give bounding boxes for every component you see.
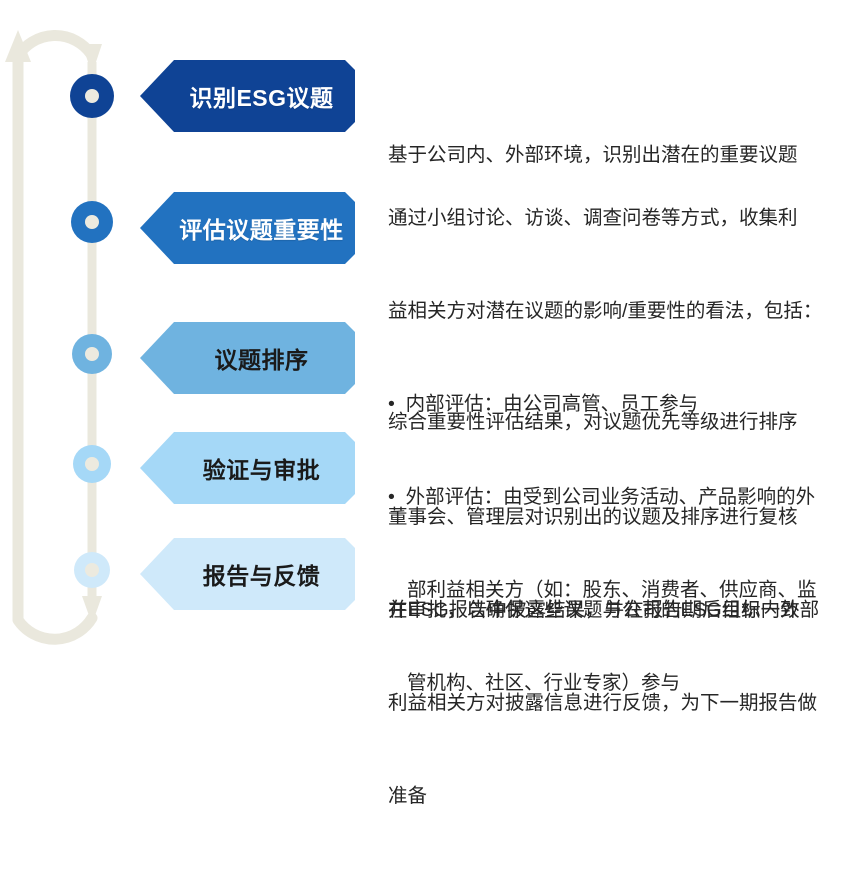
desc-line: 利益相关方对披露信息进行反馈，为下一期报告做 [388,688,859,719]
desc-line: 通过小组讨论、访谈、调查问卷等方式，收集利 [388,203,859,234]
desc-line: 益相关方对潜在议题的影响/重要性的看法，包括： [388,296,859,327]
step-label-3: 议题排序 [215,341,309,375]
step-chevron-1[interactable]: 识别ESG议题 [140,60,355,132]
desc-line: 在ESG报告中披露结果，并在报告期后组织内外部 [388,595,859,626]
step-chevron-3[interactable]: 议题排序 [140,322,355,394]
timeline-node-hole [85,89,99,103]
step-description-5: 在ESG报告中披露结果，并在报告期后组织内外部 利益相关方对披露信息进行反馈，为… [388,533,859,874]
timeline-node-1[interactable] [70,74,114,118]
desc-line: 综合重要性评估结果，对议题优先等级进行排序 [388,407,859,438]
step-label-2: 评估议题重要性 [179,211,344,245]
timeline-node-hole [85,457,99,471]
desc-line: 准备 [388,781,859,812]
step-label-5: 报告与反馈 [203,557,321,591]
step-chevron-4[interactable]: 验证与审批 [140,432,355,504]
timeline-node-hole [85,215,99,229]
loop-bottom-arc [18,618,92,639]
timeline-node-2[interactable] [71,201,113,243]
step-chevron-2[interactable]: 评估议题重要性 [140,192,355,264]
timeline-node-4[interactable] [73,445,111,483]
step-label-4: 验证与审批 [203,451,321,485]
timeline-node-hole [85,347,99,361]
loop-top-arc [18,36,91,56]
timeline-node-3[interactable] [72,334,112,374]
step-label-1: 识别ESG议题 [189,79,333,113]
desc-line: 董事会、管理层对识别出的议题及排序进行复核 [388,502,859,533]
timeline-node-5[interactable] [74,552,110,588]
step-chevron-5[interactable]: 报告与反馈 [140,538,355,610]
timeline-node-hole [85,563,99,577]
